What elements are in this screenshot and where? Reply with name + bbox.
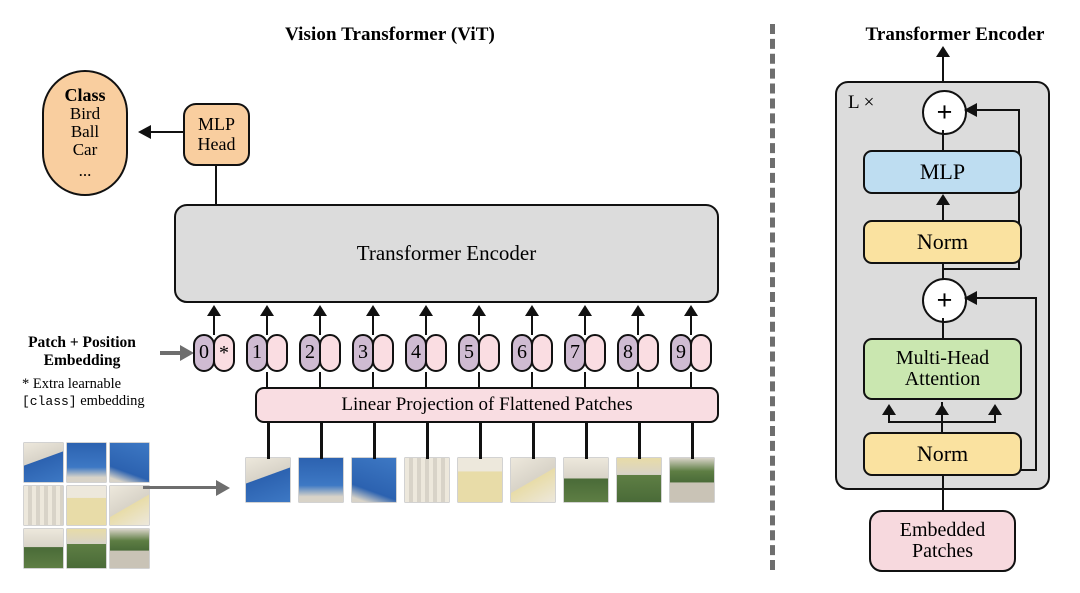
token-index-label: 2	[305, 342, 315, 363]
source-patch-tile	[67, 443, 106, 482]
transformer-encoder-label: Transformer Encoder	[357, 242, 536, 264]
left-panel-title: Vision Transformer (ViT)	[190, 24, 590, 46]
multi-head-attention-block: Multi-Head Attention	[863, 338, 1022, 400]
mlp-block: MLP	[863, 150, 1022, 194]
patch-embedding-capsule	[690, 334, 712, 372]
sequence-patch-tile	[352, 458, 396, 502]
residual-top-arrowhead	[964, 103, 977, 117]
patch-to-projection-line	[479, 423, 482, 459]
token-to-encoder-arrowhead	[578, 305, 592, 316]
source-patch-tile	[24, 443, 63, 482]
source-patch-tile	[67, 529, 106, 568]
mlp-label: MLP	[920, 160, 965, 183]
plus-bottom-to-attention-line	[942, 318, 944, 340]
patch-to-projection-line	[532, 423, 535, 459]
norm-top-to-mlp-line	[942, 202, 944, 222]
class-token-code: [class]	[22, 394, 77, 409]
position-embedding-capsule: 3	[352, 334, 374, 372]
class-output-box: Class Bird Ball Car ...	[42, 70, 128, 196]
patch-position-embedding-label: Patch + Position Embedding	[6, 334, 158, 370]
embedding-label-line1: Patch + Position	[6, 334, 158, 352]
plus-symbol: +	[937, 287, 953, 314]
embedded-patches-line2: Patches	[912, 541, 973, 562]
encoder-output-arrowhead	[936, 46, 950, 57]
token-index-label: 7	[570, 342, 580, 363]
token-to-encoder-arrowhead	[525, 305, 539, 316]
token-to-encoder-line	[319, 313, 321, 335]
residual-top-horizontal-top	[975, 109, 1020, 111]
token-index-label: 0	[199, 342, 209, 363]
position-embedding-capsule: 4	[405, 334, 427, 372]
plus-top-to-mlp-line	[942, 130, 944, 152]
token-index-label: 6	[517, 342, 527, 363]
sequence-patch-tile	[670, 458, 714, 502]
attention-line2: Attention	[905, 369, 981, 390]
linear-projection-box: Linear Projection of Flattened Patches	[255, 387, 719, 423]
patch-embedding-capsule	[425, 334, 447, 372]
position-embedding-capsule: 6	[511, 334, 533, 372]
mlp-head-box: MLP Head	[183, 103, 250, 166]
token-to-encoder-line	[690, 313, 692, 335]
sequence-patch-tile	[564, 458, 608, 502]
class-item: Bird	[70, 105, 100, 123]
patchify-arrow-head	[216, 480, 230, 496]
footnote-line1: * Extra learnable	[22, 376, 182, 393]
right-panel-title: Transformer Encoder	[830, 24, 1080, 46]
patch-to-projection-line	[267, 423, 270, 459]
norm-top-label: Norm	[917, 230, 968, 253]
class-token-star: *	[219, 343, 229, 363]
attention-arrowhead-left	[882, 404, 896, 415]
token-to-encoder-arrowhead	[419, 305, 433, 316]
residual-bottom-arrowhead	[964, 291, 977, 305]
token-to-encoder-line	[637, 313, 639, 335]
sequence-patch-tile	[458, 458, 502, 502]
token-to-encoder-line	[584, 313, 586, 335]
patch-to-projection-line	[691, 423, 694, 459]
token-to-encoder-line	[425, 313, 427, 335]
sequence-patch-tile	[617, 458, 661, 502]
patch-to-projection-line	[426, 423, 429, 459]
footnote-tail: embedding	[77, 393, 145, 409]
token-index-label: 5	[464, 342, 474, 363]
mlp-head-line1: MLP	[198, 115, 235, 134]
token-to-encoder-arrowhead	[207, 305, 221, 316]
attention-line1: Multi-Head	[896, 348, 989, 369]
position-embedding-capsule: 7	[564, 334, 586, 372]
token-to-encoder-arrowhead	[366, 305, 380, 316]
token-index-label: 4	[411, 342, 421, 363]
attention-arrowhead-mid	[935, 404, 949, 415]
token-to-encoder-arrowhead	[472, 305, 486, 316]
embedding-label-line2: Embedding	[6, 352, 158, 370]
position-embedding-capsule: 9	[670, 334, 692, 372]
patchify-arrow-line	[143, 486, 219, 489]
token-to-encoder-arrowhead	[260, 305, 274, 316]
token-index-label: 8	[623, 342, 633, 363]
class-item: ...	[79, 162, 92, 180]
sequence-patch-tile	[299, 458, 343, 502]
patch-embedding-capsule: *	[213, 334, 235, 372]
class-item: Ball	[71, 123, 99, 141]
mlp-to-class-line	[146, 131, 184, 133]
source-patch-tile	[24, 486, 63, 525]
patch-embedding-capsule	[478, 334, 500, 372]
sequence-patch-tile	[511, 458, 555, 502]
token-to-encoder-line	[478, 313, 480, 335]
patch-embedding-capsule	[319, 334, 341, 372]
norm-top-to-mlp-arrowhead	[936, 194, 950, 205]
repeat-count-label: L ×	[848, 92, 874, 114]
attention-arrowhead-right	[988, 404, 1002, 415]
position-embedding-capsule: 0	[193, 334, 215, 372]
mlp-to-class-arrowhead	[138, 125, 151, 139]
embedded-patches-line1: Embedded	[900, 520, 986, 541]
residual-add-bottom: +	[922, 278, 967, 323]
sequence-patch-tile	[246, 458, 290, 502]
linear-projection-label: Linear Projection of Flattened Patches	[341, 395, 632, 415]
token-to-encoder-line	[213, 313, 215, 335]
patch-to-projection-line	[373, 423, 376, 459]
token-to-encoder-line	[266, 313, 268, 335]
patch-embedding-capsule	[266, 334, 288, 372]
plus-symbol: +	[937, 99, 953, 126]
footnote-line2: [class] embedding	[22, 393, 182, 410]
source-patch-tile	[67, 486, 106, 525]
class-item: Car	[73, 141, 98, 159]
residual-add-top: +	[922, 90, 967, 135]
position-embedding-capsule: 8	[617, 334, 639, 372]
extra-learnable-footnote: * Extra learnable [class] embedding	[22, 376, 182, 411]
embedding-arrow-head	[180, 345, 194, 361]
token-index-label: 9	[676, 342, 686, 363]
panel-divider	[770, 24, 775, 570]
token-to-encoder-line	[531, 313, 533, 335]
token-to-encoder-line	[372, 313, 374, 335]
patch-embedding-capsule	[584, 334, 606, 372]
position-embedding-capsule: 5	[458, 334, 480, 372]
norm-bottom-input-line	[942, 474, 944, 512]
patch-to-projection-line	[320, 423, 323, 459]
mlp-head-line2: Head	[198, 135, 236, 154]
patch-embedding-capsule	[531, 334, 553, 372]
token-to-encoder-arrowhead	[313, 305, 327, 316]
patch-embedding-capsule	[637, 334, 659, 372]
token-to-encoder-arrowhead	[684, 305, 698, 316]
residual-bottom-vertical	[1035, 299, 1037, 471]
patch-to-projection-line	[585, 423, 588, 459]
transformer-encoder-box: Transformer Encoder	[174, 204, 719, 303]
source-patch-tile	[110, 486, 149, 525]
source-patch-tile	[110, 443, 149, 482]
patch-to-projection-line	[638, 423, 641, 459]
position-embedding-capsule: 1	[246, 334, 268, 372]
sequence-patch-tile	[405, 458, 449, 502]
mlp-head-to-encoder-line	[215, 166, 217, 204]
source-patch-tile	[110, 529, 149, 568]
token-index-label: 3	[358, 342, 368, 363]
class-heading: Class	[64, 86, 105, 105]
position-embedding-capsule: 2	[299, 334, 321, 372]
embedding-arrow-line	[160, 351, 182, 355]
token-index-label: 1	[252, 342, 262, 363]
norm-block-top: Norm	[863, 220, 1022, 264]
residual-top-horizontal-bottom	[942, 268, 1020, 270]
embedded-patches-block: Embedded Patches	[869, 510, 1016, 572]
patch-embedding-capsule	[372, 334, 394, 372]
residual-bottom-horizontal-top	[975, 297, 1037, 299]
norm-block-bottom: Norm	[863, 432, 1022, 476]
norm-bottom-label: Norm	[917, 442, 968, 465]
token-to-encoder-arrowhead	[631, 305, 645, 316]
source-patch-tile	[24, 529, 63, 568]
